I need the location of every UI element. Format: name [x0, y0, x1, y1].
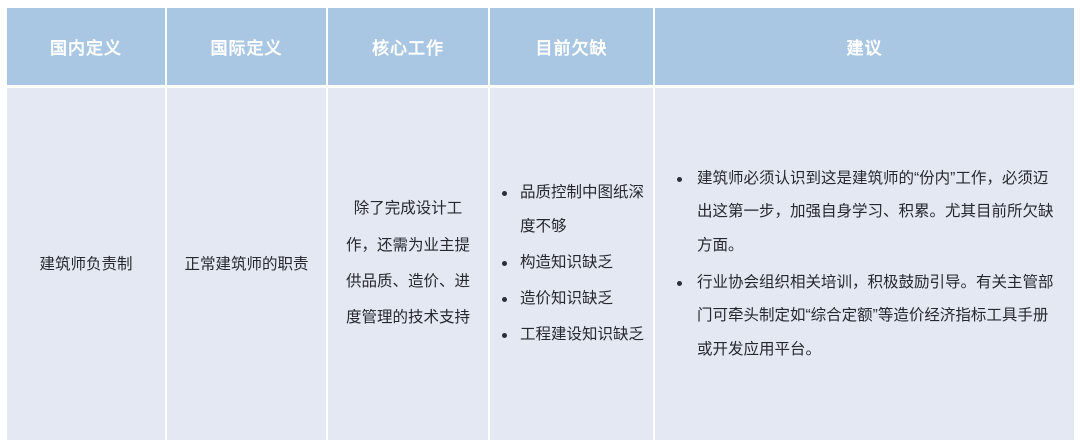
list-item: 建筑师必须认识到这是建筑师的“份内”工作，必须迈出这第一步，加强自身学习、积累。… [673, 162, 1060, 262]
suggestions-list: 建筑师必须认识到这是建筑师的“份内”工作，必须迈出这第一步，加强自身学习、积累。… [655, 162, 1074, 366]
list-item: 行业协会组织相关培训，积极鼓励引导。有关主管部门可牵头制定如“综合定额”等造价经… [673, 266, 1060, 366]
table-header: 国内定义 国际定义 核心工作 目前欠缺 建议 [7, 8, 1074, 85]
bullet-dot-icon [502, 297, 507, 302]
cell-suggestions: 建筑师必须认识到这是建筑师的“份内”工作，必须迈出这第一步，加强自身学习、积累。… [655, 88, 1074, 440]
list-item-text: 工程建设知识缺乏 [520, 326, 644, 343]
column-header-international-definition: 国际定义 [167, 8, 326, 85]
bullet-dot-icon [502, 261, 507, 266]
list-item: 品质控制中图纸深度不够 [500, 176, 647, 244]
cell-current-gaps: 品质控制中图纸深度不够 构造知识缺乏 造价知识缺乏 工程建设知识缺乏 [490, 88, 653, 440]
column-header-domestic-definition: 国内定义 [7, 8, 165, 85]
table-header-row: 国内定义 国际定义 核心工作 目前欠缺 建议 [7, 8, 1074, 85]
cell-core-work: 除了完成设计工作，还需为业主提供品质、造价、进度管理的技术支持 [328, 88, 488, 440]
bullet-dot-icon [677, 177, 682, 182]
bullet-dot-icon [502, 333, 507, 338]
table-body: 建筑师负责制 正常建筑师的职责 除了完成设计工作，还需为业主提供品质、造价、进度… [7, 88, 1074, 440]
list-item-text: 行业协会组织相关培训，积极鼓励引导。有关主管部门可牵头制定如“综合定额”等造价经… [697, 274, 1054, 358]
bullet-dot-icon [502, 191, 507, 196]
list-item-text: 构造知识缺乏 [520, 254, 613, 271]
list-item-text: 建筑师必须认识到这是建筑师的“份内”工作，必须迈出这第一步，加强自身学习、积累。… [697, 170, 1054, 254]
list-item: 工程建设知识缺乏 [500, 318, 647, 352]
column-header-suggestions: 建议 [655, 8, 1074, 85]
cell-international-definition: 正常建筑师的职责 [167, 88, 326, 440]
list-item: 构造知识缺乏 [500, 246, 647, 280]
column-header-core-work: 核心工作 [328, 8, 488, 85]
list-item: 造价知识缺乏 [500, 282, 647, 316]
comparison-table: 国内定义 国际定义 核心工作 目前欠缺 建议 建筑师负责制 正常建筑师的职责 除… [5, 5, 1076, 443]
list-item-text: 品质控制中图纸深度不够 [520, 184, 644, 235]
bullet-dot-icon [677, 281, 682, 286]
list-item-text: 造价知识缺乏 [520, 290, 613, 307]
comparison-table-container: 国内定义 国际定义 核心工作 目前欠缺 建议 建筑师负责制 正常建筑师的职责 除… [0, 0, 1080, 447]
current-gaps-list: 品质控制中图纸深度不够 构造知识缺乏 造价知识缺乏 工程建设知识缺乏 [490, 176, 653, 352]
cell-domestic-definition: 建筑师负责制 [7, 88, 165, 440]
table-row: 建筑师负责制 正常建筑师的职责 除了完成设计工作，还需为业主提供品质、造价、进度… [7, 88, 1074, 440]
column-header-current-gaps: 目前欠缺 [490, 8, 653, 85]
